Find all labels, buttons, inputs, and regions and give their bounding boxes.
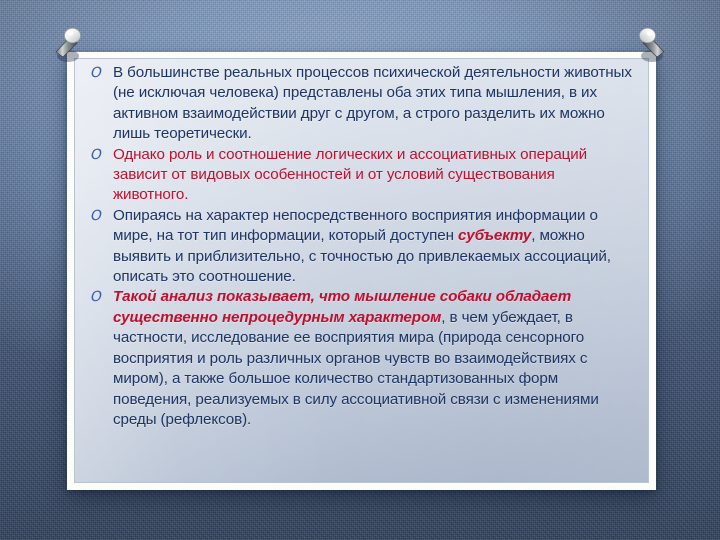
bullet-3-highlight: субъекту	[458, 227, 531, 244]
list-item: O Такой анализ показывает, что мышление …	[91, 287, 632, 430]
bullet-text-3: Опираясь на характер непосредственного в…	[113, 206, 632, 288]
bullet-oval-icon: O	[89, 63, 115, 80]
pushpin-right	[638, 22, 672, 68]
slide-body-list: O В большинстве реальных процессов психи…	[75, 59, 648, 430]
pushpin-icon	[48, 22, 82, 68]
list-item: O В большинстве реальных процессов психи…	[91, 63, 632, 145]
list-item: O Опираясь на характер непосредственного…	[91, 206, 632, 288]
pushpin-left	[48, 22, 82, 68]
bullet-4-tail: , в чем убеждает, в частности, исследова…	[113, 309, 599, 428]
bullet-text-4: Такой анализ показывает, что мышление со…	[113, 287, 632, 430]
slide-frame: O В большинстве реальных процессов психи…	[67, 52, 656, 490]
list-item: O Однако роль и соотношение логических и…	[91, 145, 632, 206]
bullet-text-1: В большинстве реальных процессов психиче…	[113, 63, 632, 145]
slide-surface: O В большинстве реальных процессов психи…	[74, 58, 649, 483]
bullet-text-2: Однако роль и соотношение логических и а…	[113, 145, 632, 206]
bullet-oval-icon: O	[89, 206, 115, 223]
pushpin-icon	[638, 22, 672, 68]
bullet-oval-icon: O	[89, 287, 115, 304]
bullet-oval-icon: O	[89, 145, 115, 162]
